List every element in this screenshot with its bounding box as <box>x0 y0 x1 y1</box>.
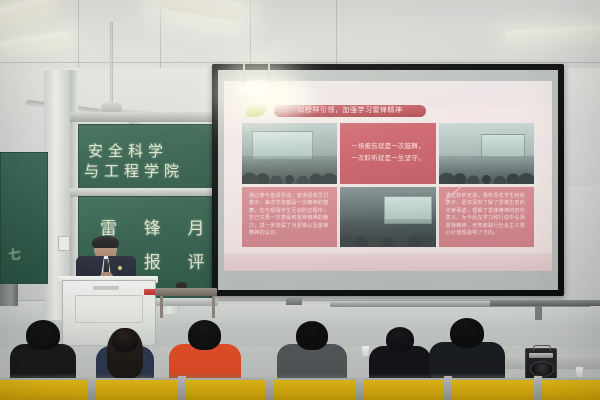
shelf-bracket <box>535 306 542 320</box>
slide-title: 以榜样引领，加强学习雷锋精神 <box>274 105 426 117</box>
side-table <box>155 288 217 296</box>
presentation-slide: 以榜样引领，加强学习雷锋精神 一场报告就是一次鼓舞， 一次聆听就是一生坚守。 <box>224 81 552 271</box>
blackboard-text-line2: 与工程学院 <box>84 160 184 181</box>
slide-content-grid: 一场报告就是一次鼓舞， 一次聆听就是一生坚守。 通过参与宣讲活动，宣讲团成员们表… <box>242 123 534 247</box>
chalk-rail <box>70 112 218 122</box>
pa-speaker-grill <box>530 361 554 377</box>
lectern-logo <box>93 286 119 290</box>
slide-photo-top-right <box>439 123 534 184</box>
audience-member-head <box>296 321 328 350</box>
slide-footer-band <box>224 253 552 271</box>
blackboard-text-line1: 安全科学 <box>88 140 168 161</box>
pa-speaker-control-panel[interactable] <box>529 353 553 358</box>
lectern-panel <box>75 295 143 323</box>
audience-member-head <box>188 320 221 350</box>
blackboard-side <box>0 152 48 284</box>
slide-photo-top-left <box>242 123 337 184</box>
wall-shelf <box>490 300 600 306</box>
lectern[interactable] <box>62 280 156 346</box>
audience-member-head <box>112 328 138 352</box>
audience-member-head <box>450 318 484 348</box>
screen-mount <box>286 296 302 305</box>
quote-line-1: 一场报告就是一次鼓舞， <box>351 141 425 153</box>
lapel-pin-icon <box>118 266 122 270</box>
ceiling-fan-rod <box>110 22 113 104</box>
pa-speaker-handle <box>533 345 551 351</box>
slide-quote-box: 一场报告就是一次鼓舞， 一次聆听就是一生坚守。 <box>340 123 435 184</box>
slide-text-bottom-left: 通过参与宣讲活动，宣讲团成员们表示，每次交流都是一次精神的鼓舞。在与现场学生互动… <box>242 187 337 248</box>
leaf-decoration-icon <box>246 105 266 117</box>
audience-member-head <box>26 320 60 350</box>
pendant-lamp-icon <box>236 80 280 100</box>
quote-line-2: 一次聆听就是一生坚守。 <box>351 153 425 165</box>
slide-photo-bottom-center <box>340 187 435 248</box>
blackboard-text-line3: 雷 锋 月 <box>100 214 215 239</box>
audience-member-head <box>386 327 414 352</box>
paper-cup[interactable] <box>575 367 584 377</box>
classroom-photo-scene: 安全科学 与工程学院 雷 锋 月 海 报 评 比 七 以榜样引领，加强学习雷锋精… <box>0 0 600 400</box>
paper-cup[interactable] <box>361 346 370 356</box>
blackboard-side-text: 七 <box>8 244 21 263</box>
screen-surface: 以榜样引领，加强学习雷锋精神 一场报告就是一次鼓舞， 一次聆听就是一生坚守。 <box>218 70 558 290</box>
light-switch[interactable] <box>58 236 70 251</box>
slide-text-bottom-right: 通过聆听宣讲，我校青年学生纷纷表示，更加深刻了解了雷锋生前的光荣事迹，理解了雷锋… <box>439 187 534 248</box>
